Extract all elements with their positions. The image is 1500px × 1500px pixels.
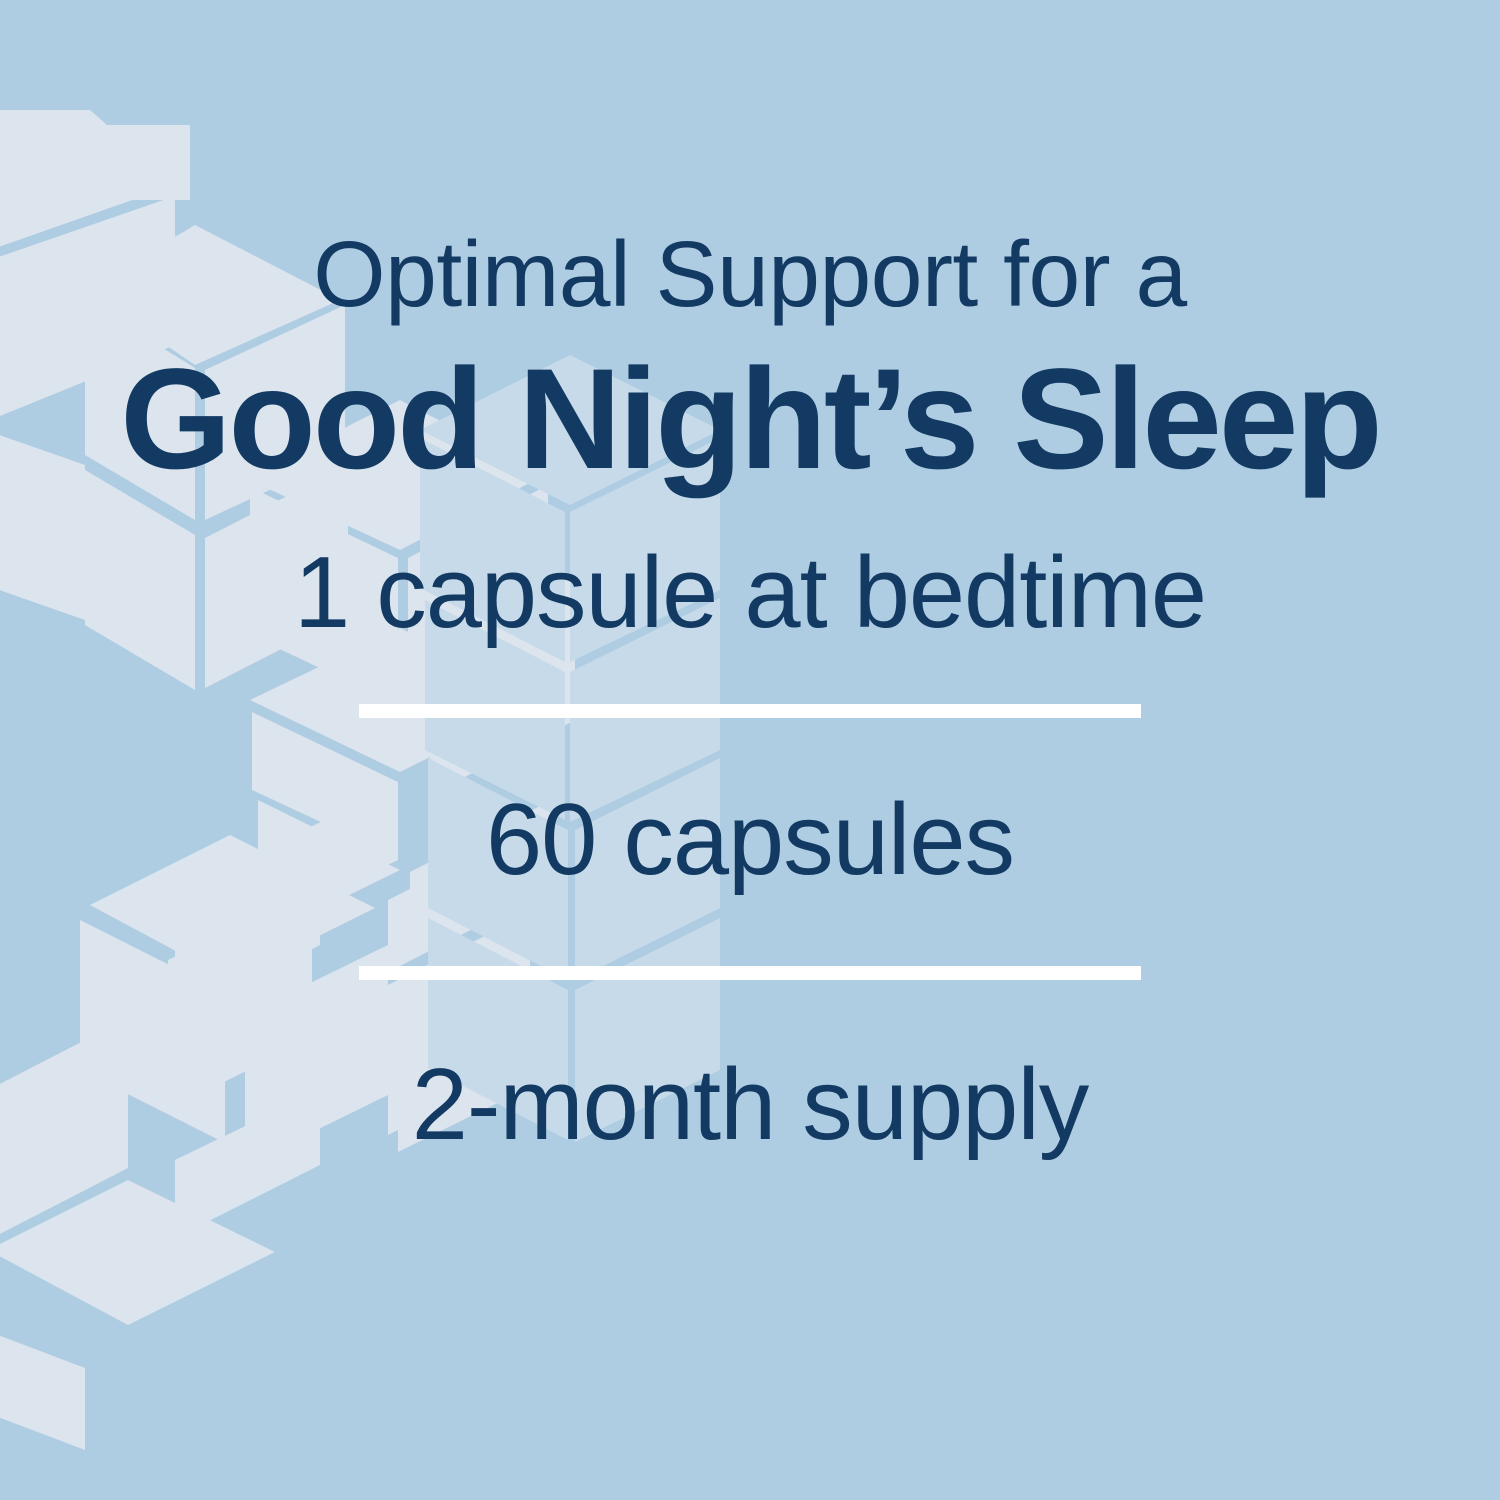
supply-duration-text: 2-month supply bbox=[0, 1055, 1500, 1156]
capsule-count-text: 60 capsules bbox=[0, 790, 1500, 891]
divider-rule-top bbox=[359, 704, 1141, 718]
product-info-graphic: Optimal Support for a Good Night’s Sleep… bbox=[0, 0, 1500, 1500]
dosage-text: 1 capsule at bedtime bbox=[0, 543, 1500, 644]
page-title: Good Night’s Sleep bbox=[0, 348, 1500, 491]
eyebrow-text: Optimal Support for a bbox=[0, 228, 1500, 321]
divider-rule-bottom bbox=[359, 966, 1141, 980]
content-stack: Optimal Support for a Good Night’s Sleep… bbox=[0, 0, 1500, 1500]
